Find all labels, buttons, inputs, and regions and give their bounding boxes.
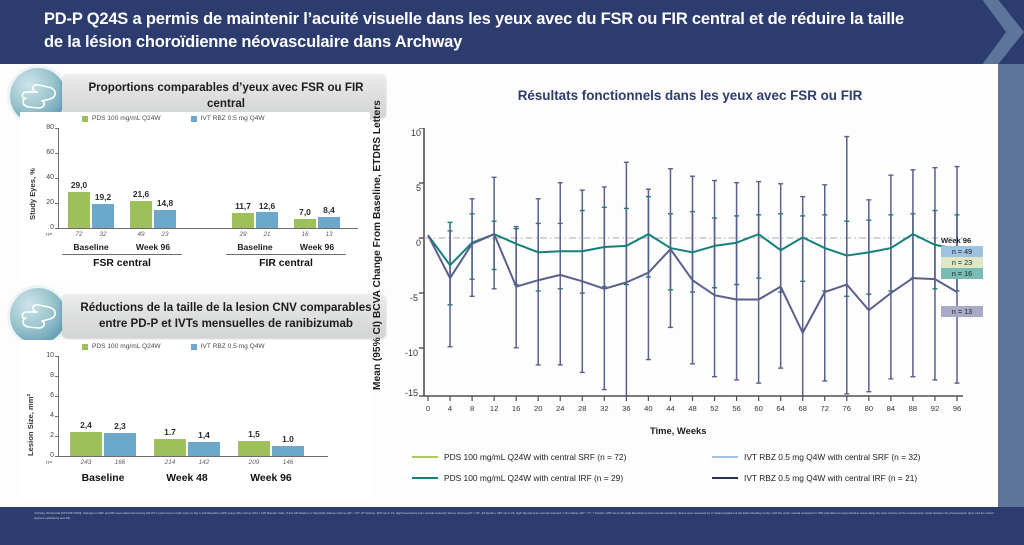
legend-swatch-pds bbox=[82, 344, 88, 350]
chart1-ytick-40: 40 bbox=[38, 174, 54, 181]
proportions-bar-chart: PDS 100 mg/mL Q24W IVT RBZ 0.5 mg Q4W St… bbox=[20, 112, 370, 282]
callout-text: Réductions de la taille de la lesion CNV… bbox=[76, 300, 376, 331]
bar-value-fir-wk96-ivt: 8,4 bbox=[312, 205, 346, 215]
chart2-x-axis bbox=[58, 456, 328, 457]
bar-value-wk96-ivt: 1.0 bbox=[266, 434, 310, 444]
chart2-legend: PDS 100 mg/mL Q24W IVT RBZ 0.5 mg Q4W bbox=[82, 343, 265, 350]
chart2-n-label: n= bbox=[46, 460, 52, 466]
n-wk48-pds: 214 bbox=[155, 459, 185, 466]
bcva-y-axis-label: Mean (95% CI) BCVA Change From Baseline,… bbox=[372, 130, 383, 390]
legend-label-pds-irf: PDS 100 mg/mL Q24W with central IRF (n =… bbox=[444, 473, 623, 483]
chart2-cat-wk96: Week 96 bbox=[240, 473, 302, 484]
bcva-xtick-40: 40 bbox=[640, 404, 656, 413]
n-wk48-ivt: 142 bbox=[189, 459, 219, 466]
chart1-group-fir: FIR central bbox=[226, 258, 346, 269]
bcva-xtick-20: 20 bbox=[530, 404, 546, 413]
bar-value-fsr-baseline-pds: 29,0 bbox=[62, 180, 96, 190]
bcva-ytick-m5: -5 bbox=[392, 293, 418, 303]
bcva-xtick-96: 96 bbox=[949, 404, 965, 413]
chart1-cat-fsr-baseline: Baseline bbox=[60, 242, 122, 252]
chart1-cat-fir-baseline: Baseline bbox=[224, 242, 286, 252]
bcva-xtick-16: 16 bbox=[508, 404, 524, 413]
legend-label-pds: PDS 100 mg/mL Q24W bbox=[92, 115, 161, 122]
n-wk96-pds: 209 bbox=[239, 459, 269, 466]
bcva-chart-title: Résultats fonctionnels dans les yeux ave… bbox=[430, 86, 950, 105]
bcva-xtick-8: 8 bbox=[464, 404, 480, 413]
bar-wk48-ivt bbox=[188, 442, 220, 456]
legend-label-pds: PDS 100 mg/mL Q24W bbox=[92, 343, 161, 350]
legend-label-ivt: IVT RBZ 0.5 mg Q4W bbox=[201, 343, 265, 350]
n-fir-baseline-ivt: 21 bbox=[252, 231, 282, 238]
legend-line-pds-irf bbox=[412, 477, 438, 480]
chart1-ytick-0: 0 bbox=[38, 224, 54, 231]
legend-item-ivt-srf: IVT RBZ 0.5 mg Q4W with central SRF (n =… bbox=[712, 452, 1012, 462]
chart1-y-axis bbox=[58, 128, 59, 229]
bcva-xtick-28: 28 bbox=[574, 404, 590, 413]
right-accent-band bbox=[998, 64, 1024, 507]
legend-label-ivt-irf: IVT RBZ 0.5 mg Q4W with central IRF (n =… bbox=[744, 473, 917, 483]
bcva-xtick-52: 52 bbox=[707, 404, 723, 413]
slide-root: PD-P Q24S a permis de maintenir l’acuité… bbox=[0, 0, 1024, 545]
slide-header: PD-P Q24S a permis de maintenir l’acuité… bbox=[0, 0, 1024, 64]
legend-swatch-ivt bbox=[191, 344, 197, 350]
bcva-annotation-n-13: n = 13 bbox=[941, 306, 983, 317]
bar-wk96-ivt bbox=[272, 446, 304, 456]
legend-label-ivt-srf: IVT RBZ 0.5 mg Q4W with central SRF (n =… bbox=[744, 452, 920, 462]
bcva-x-axis-label: Time, Weeks bbox=[650, 425, 706, 436]
bar-fir-wk96-pds bbox=[294, 219, 316, 228]
legend-item-pds-irf: PDS 100 mg/mL Q24W with central IRF (n =… bbox=[412, 473, 712, 483]
legend-line-pds-srf bbox=[412, 456, 438, 459]
n-wk96-ivt: 146 bbox=[273, 459, 303, 466]
chart1-cat-fir-wk96: Week 96 bbox=[286, 242, 348, 252]
chart1-x-axis bbox=[58, 228, 358, 229]
legend-item-pds: PDS 100 mg/mL Q24W bbox=[82, 115, 161, 122]
bcva-xtick-60: 60 bbox=[751, 404, 767, 413]
legend-item-ivt-irf: IVT RBZ 0.5 mg Q4W with central IRF (n =… bbox=[712, 473, 1012, 483]
bar-value-fsr-baseline-ivt: 19,2 bbox=[86, 192, 120, 202]
chart2-cat-baseline: Baseline bbox=[72, 473, 134, 484]
bar-value-fir-baseline-ivt: 12,6 bbox=[250, 201, 284, 211]
chart2-ytick-6: 6 bbox=[38, 392, 54, 399]
bcva-xtick-32: 32 bbox=[596, 404, 612, 413]
chart1-ytick-20: 20 bbox=[38, 199, 54, 206]
chart1-n-label: n= bbox=[46, 232, 52, 238]
footnote-text: Archway clinical trial [NCT03677934]. Ch… bbox=[34, 511, 994, 520]
bcva-xtick-56: 56 bbox=[729, 404, 745, 413]
legend-item-ivt: IVT RBZ 0.5 mg Q4W bbox=[191, 343, 265, 350]
legend-line-ivt-srf bbox=[712, 456, 738, 459]
bcva-xtick-64: 64 bbox=[773, 404, 789, 413]
bcva-xtick-68: 68 bbox=[795, 404, 811, 413]
bar-wk48-pds bbox=[154, 439, 186, 456]
chart2-ytick-2: 2 bbox=[38, 432, 54, 439]
chart1-cat-fsr-wk96: Week 96 bbox=[122, 242, 184, 252]
bar-value-fsr-wk96-ivt: 14,8 bbox=[148, 198, 182, 208]
bar-value-baseline-ivt: 2,3 bbox=[98, 421, 142, 431]
legend-swatch-ivt bbox=[191, 116, 197, 122]
bcva-xtick-4: 4 bbox=[442, 404, 458, 413]
n-baseline-ivt: 166 bbox=[105, 459, 135, 466]
chart2-cat-wk48: Week 48 bbox=[156, 473, 218, 484]
n-fsr-baseline-ivt: 32 bbox=[88, 231, 118, 238]
legend-swatch-pds bbox=[82, 116, 88, 122]
slide-footer: Archway clinical trial [NCT03677934]. Ch… bbox=[0, 507, 1024, 545]
bar-value-wk48-ivt: 1,4 bbox=[182, 430, 226, 440]
chart1-ytick-80: 80 bbox=[38, 124, 54, 131]
chart2-ytick-8: 8 bbox=[38, 372, 54, 379]
bcva-annotation-n-49: n = 49 bbox=[941, 246, 983, 257]
chart2-ytick-10: 10 bbox=[38, 352, 54, 359]
bcva-xtick-80: 80 bbox=[861, 404, 877, 413]
bar-baseline-pds bbox=[70, 432, 102, 456]
legend-item-pds: PDS 100 mg/mL Q24W bbox=[82, 343, 161, 350]
callout-text: Proportions comparables d’yeux avec FSR … bbox=[76, 80, 376, 111]
bcva-xtick-36: 36 bbox=[618, 404, 634, 413]
bcva-xtick-12: 12 bbox=[486, 404, 502, 413]
bcva-xtick-0: 0 bbox=[420, 404, 436, 413]
bcva-ytick-m10: -10 bbox=[392, 348, 418, 358]
bcva-xtick-72: 72 bbox=[817, 404, 833, 413]
n-fsr-wk96-ivt: 23 bbox=[150, 231, 180, 238]
bcva-annotation-n-16: n = 16 bbox=[941, 268, 983, 279]
bcva-plot-area bbox=[418, 128, 968, 413]
chart1-legend: PDS 100 mg/mL Q24W IVT RBZ 0.5 mg Q4W bbox=[82, 115, 265, 122]
bcva-xtick-88: 88 bbox=[905, 404, 921, 413]
legend-label-pds-srf: PDS 100 mg/mL Q24W with central SRF (n =… bbox=[444, 452, 626, 462]
chart1-y-axis-label: Study Eyes, % bbox=[28, 168, 37, 220]
bcva-xtick-24: 24 bbox=[552, 404, 568, 413]
bcva-xtick-76: 76 bbox=[839, 404, 855, 413]
chart2-y-axis-label: Lesion Size, mm² bbox=[26, 394, 35, 456]
lesion-size-bar-chart: PDS 100 mg/mL Q24W IVT RBZ 0.5 mg Q4W Le… bbox=[20, 340, 370, 500]
bcva-xtick-84: 84 bbox=[883, 404, 899, 413]
chart2-ytick-0: 0 bbox=[38, 452, 54, 459]
legend-label-ivt: IVT RBZ 0.5 mg Q4W bbox=[201, 115, 265, 122]
bcva-xtick-48: 48 bbox=[685, 404, 701, 413]
legend-line-ivt-irf bbox=[712, 477, 738, 480]
legend-item-ivt: IVT RBZ 0.5 mg Q4W bbox=[191, 115, 265, 122]
n-fir-wk96-ivt: 13 bbox=[314, 231, 344, 238]
chart1-ytick-60: 60 bbox=[38, 149, 54, 156]
bar-fir-baseline-pds bbox=[232, 213, 254, 228]
bcva-xtick-44: 44 bbox=[662, 404, 678, 413]
page-title: PD-P Q24S a permis de maintenir l’acuité… bbox=[44, 8, 924, 55]
chart2-y-axis bbox=[58, 356, 59, 457]
bar-fsr-baseline-ivt bbox=[92, 204, 114, 228]
bcva-xtick-92: 92 bbox=[927, 404, 943, 413]
legend-item-pds-srf: PDS 100 mg/mL Q24W with central SRF (n =… bbox=[412, 452, 712, 462]
bar-fsr-wk96-ivt bbox=[154, 210, 176, 228]
callout-banner: Réductions de la taille de la lesion CNV… bbox=[62, 294, 386, 338]
n-baseline-pds: 243 bbox=[71, 459, 101, 466]
bcva-ytick-m15: -15 bbox=[392, 388, 418, 398]
bar-fir-baseline-ivt bbox=[256, 212, 278, 228]
bar-fir-wk96-ivt bbox=[318, 217, 340, 228]
bcva-annotation-n-23: n = 23 bbox=[941, 257, 983, 268]
bar-baseline-ivt bbox=[104, 433, 136, 456]
chart2-ytick-4: 4 bbox=[38, 412, 54, 419]
bcva-annotation-title: Week 96 bbox=[941, 236, 971, 245]
chart1-group-fsr: FSR central bbox=[62, 258, 182, 269]
pointing-hand-icon bbox=[10, 288, 66, 344]
bcva-legend: PDS 100 mg/mL Q24W with central SRF (n =… bbox=[412, 452, 1012, 483]
